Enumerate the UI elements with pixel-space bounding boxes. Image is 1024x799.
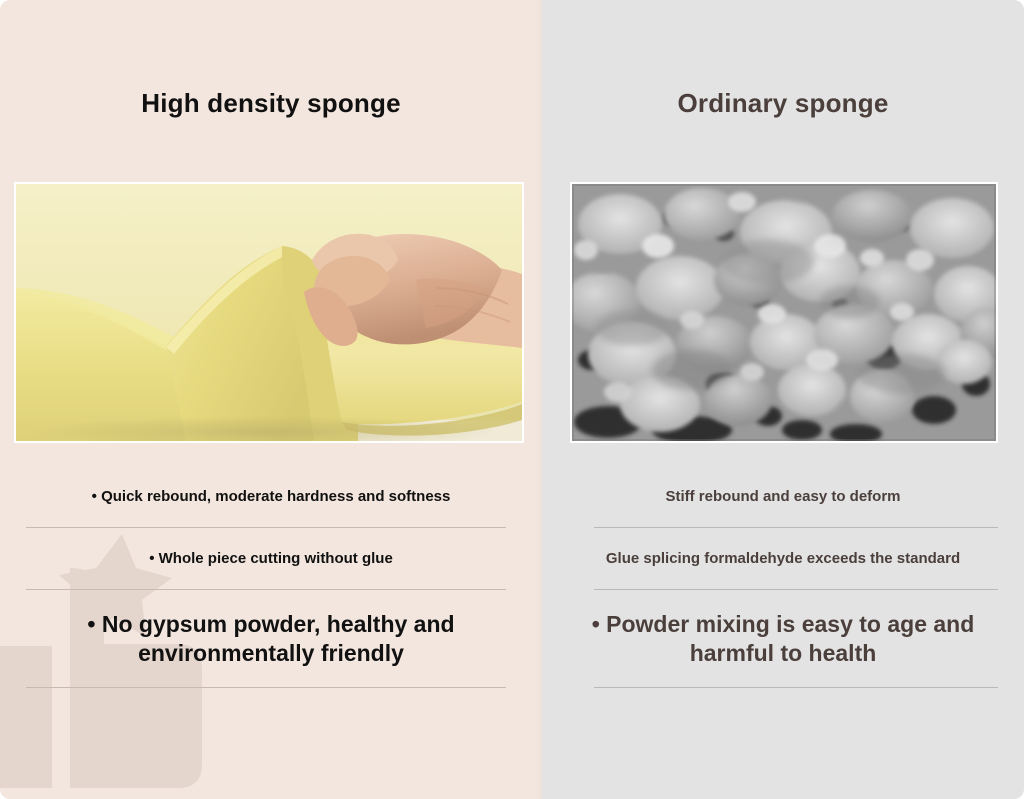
high-density-sponge-panel: High density sponge bbox=[0, 0, 542, 799]
right-feature-text-1: Stiff rebound and easy to deform bbox=[665, 488, 900, 505]
left-feature-row-2: • Whole piece cutting without glue bbox=[0, 528, 542, 590]
bullet-marker: • bbox=[592, 611, 600, 637]
right-feature-text-2: Glue splicing formaldehyde exceeds the s… bbox=[606, 550, 960, 567]
row-divider bbox=[26, 687, 506, 688]
bullet-marker: • bbox=[87, 611, 95, 637]
right-panel-title: Ordinary sponge bbox=[542, 88, 1024, 119]
right-feature-row-2: Glue splicing formaldehyde exceeds the s… bbox=[542, 528, 1024, 590]
right-feature-row-3: • Powder mixing is easy to age and harmf… bbox=[542, 590, 1024, 688]
high-density-sponge-photo bbox=[14, 182, 524, 443]
left-feature-list: • Quick rebound, moderate hardness and s… bbox=[0, 466, 542, 688]
left-feature-row-1: • Quick rebound, moderate hardness and s… bbox=[0, 466, 542, 528]
bullet-marker: • bbox=[149, 550, 154, 567]
left-feature-text-3: No gypsum powder, healthy and environmen… bbox=[102, 611, 455, 666]
bullet-marker: • bbox=[92, 488, 97, 505]
right-feature-row-1: Stiff rebound and easy to deform bbox=[542, 466, 1024, 528]
left-panel-title: High density sponge bbox=[0, 88, 542, 119]
sponge-comparison-infographic: High density sponge bbox=[0, 0, 1024, 799]
ordinary-sponge-panel: Ordinary sponge bbox=[542, 0, 1024, 799]
ordinary-sponge-photo bbox=[570, 182, 998, 443]
left-feature-row-3: • No gypsum powder, healthy and environm… bbox=[0, 590, 542, 688]
right-feature-list: Stiff rebound and easy to deform Glue sp… bbox=[542, 466, 1024, 688]
left-feature-text-1: Quick rebound, moderate hardness and sof… bbox=[101, 488, 450, 505]
left-feature-text-2: Whole piece cutting without glue bbox=[159, 550, 393, 567]
right-feature-text-3: Powder mixing is easy to age and harmful… bbox=[606, 611, 974, 666]
row-divider bbox=[594, 687, 998, 688]
